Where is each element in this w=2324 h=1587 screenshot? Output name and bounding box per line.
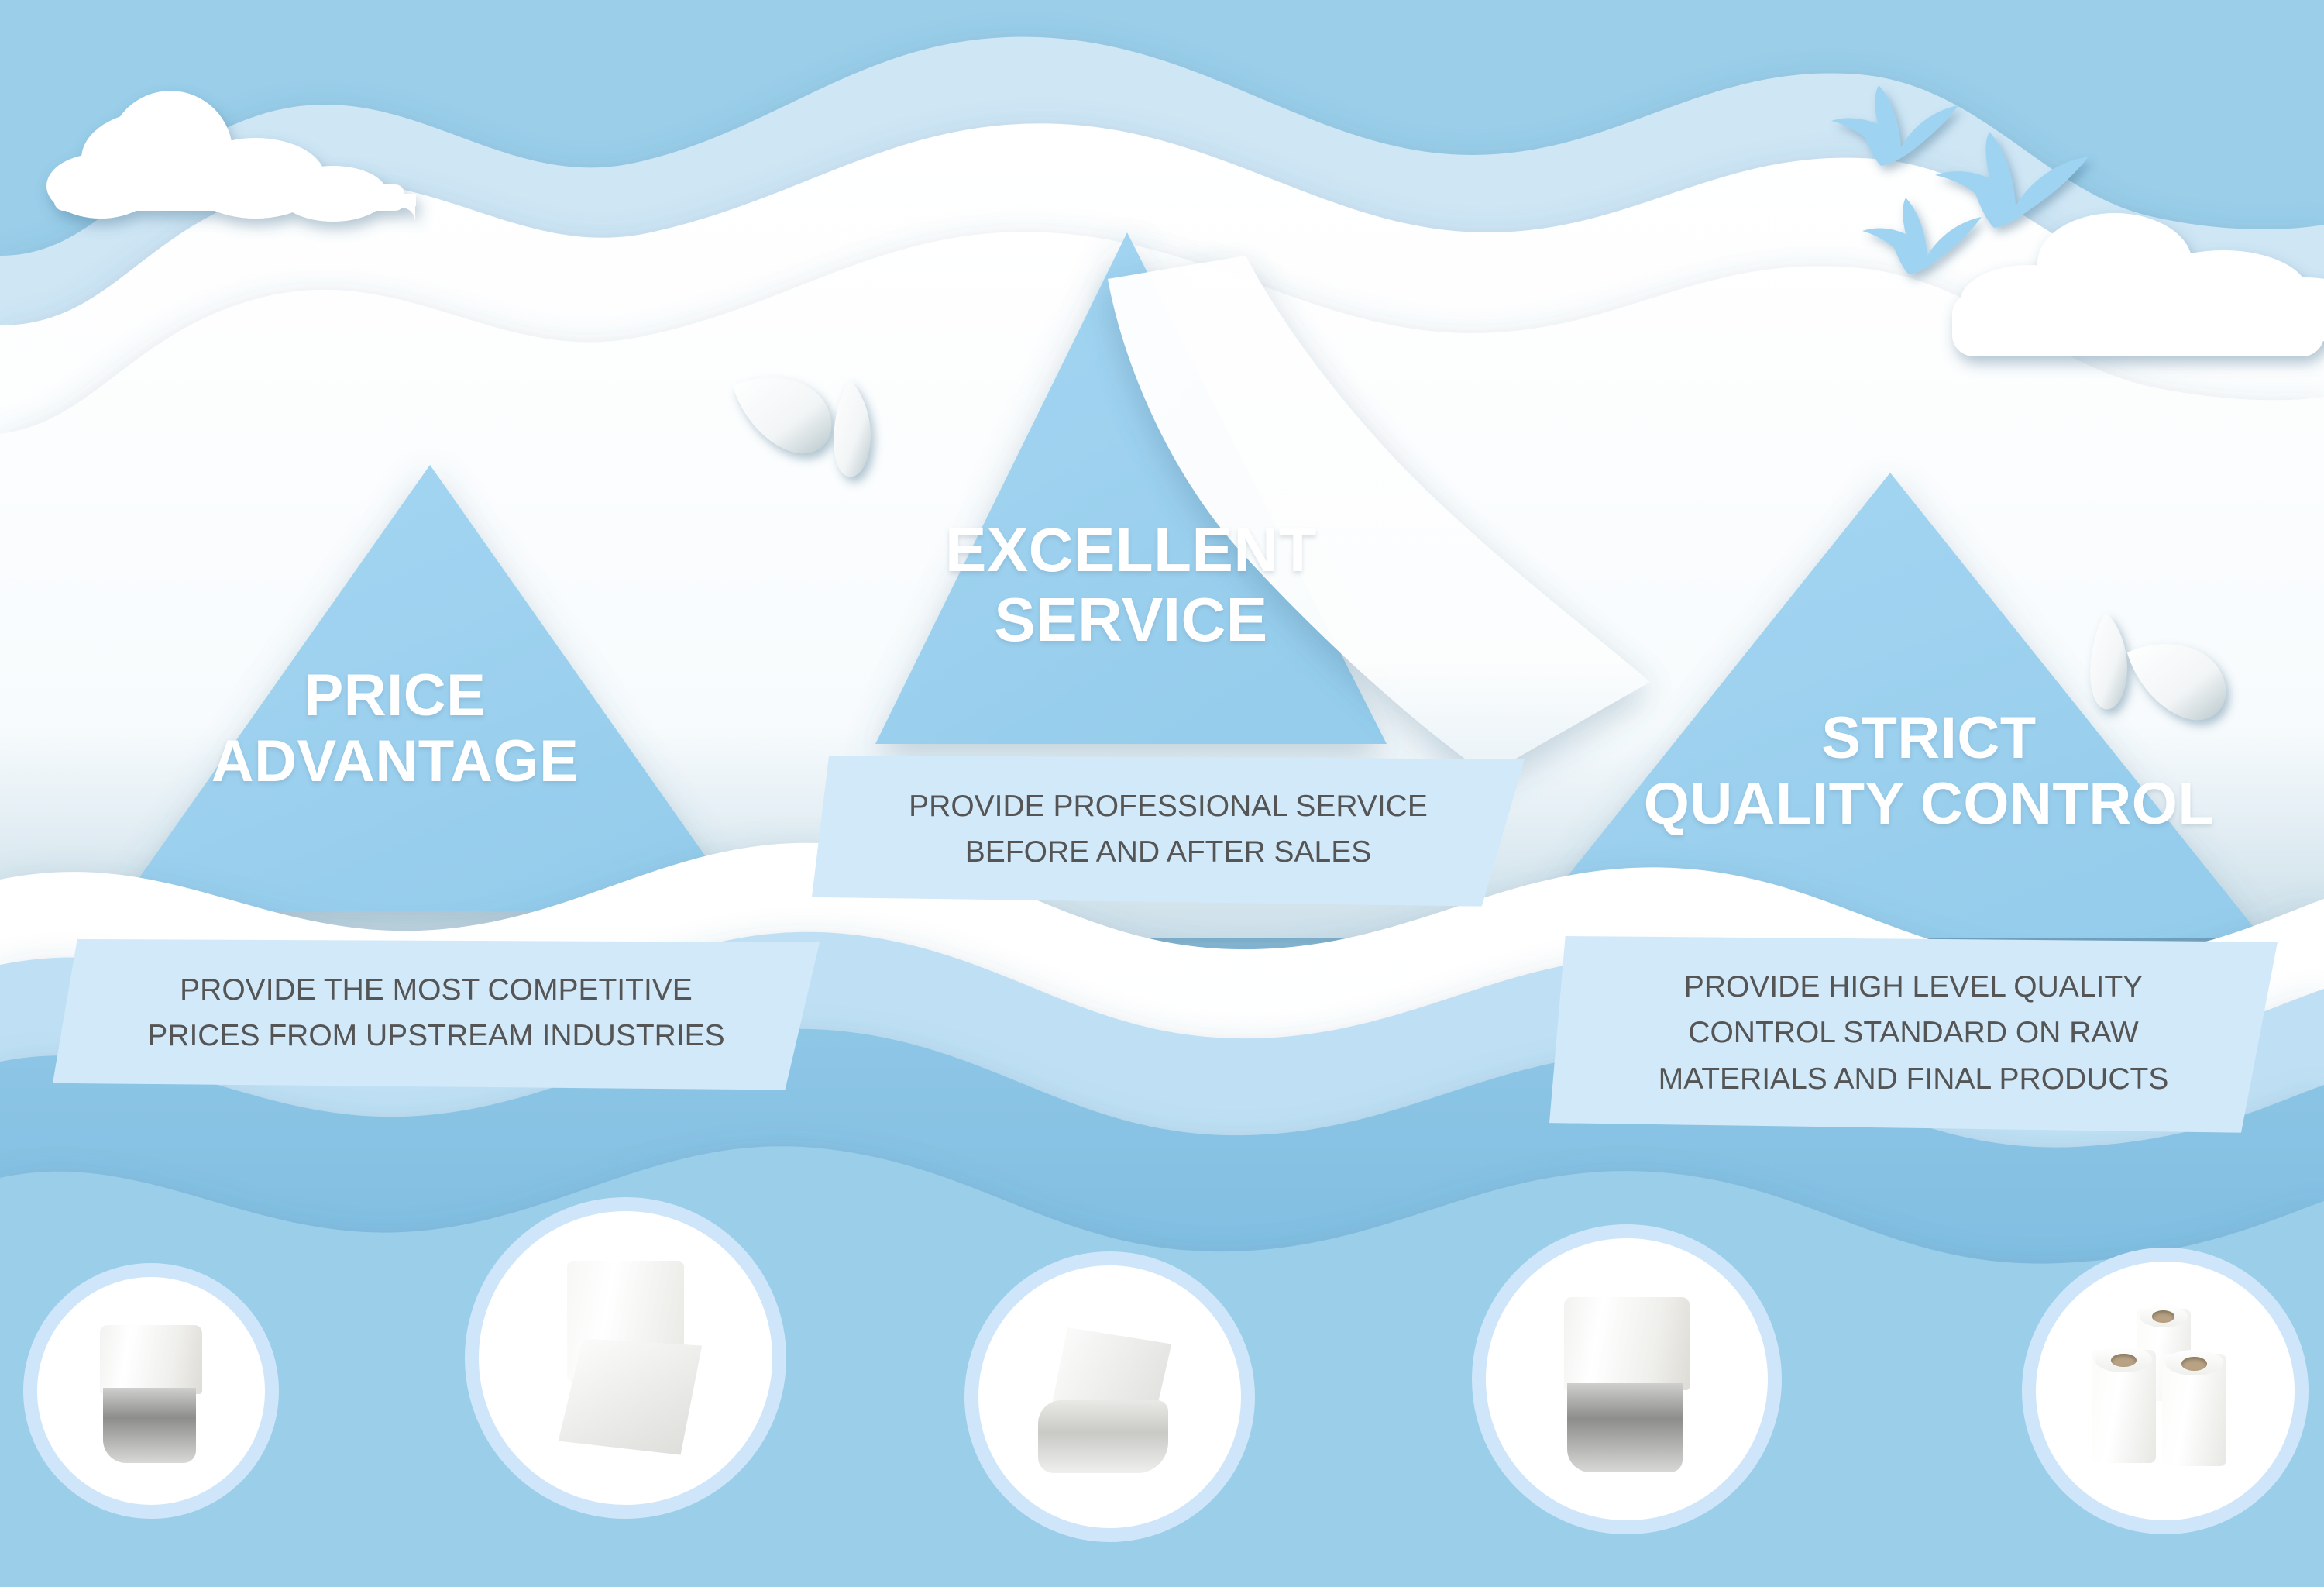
feature-caption-price-advantage: PROVIDE THE MOST COMPETITIVE PRICES FROM… bbox=[53, 939, 820, 1090]
caption-line: PRICES FROM UPSTREAM INDUSTRIES bbox=[76, 1013, 796, 1059]
feature-title-price-advantage: PRICE ADVANTAGE bbox=[139, 663, 651, 794]
infographic-canvas: PRICE ADVANTAGE EXCELLENT SERVICE STRICT… bbox=[0, 0, 2324, 1587]
product-thumb-nonwoven-three-rolls[interactable] bbox=[2022, 1248, 2309, 1534]
product-thumb-nonwoven-wide-roll[interactable] bbox=[1472, 1224, 1782, 1534]
feature-caption-strict-quality-control: PROVIDE HIGH LEVEL QUALITY CONTROL STAND… bbox=[1549, 936, 2278, 1133]
caption-line: CONTROL STANDARD ON RAW bbox=[1573, 1010, 2254, 1055]
nonwoven-three-rolls-icon bbox=[2085, 1306, 2245, 1476]
caption-line: BEFORE AND AFTER SALES bbox=[835, 829, 1501, 875]
product-thumb-nonwoven-sheet-roll[interactable] bbox=[465, 1197, 786, 1519]
product-thumb-nonwoven-roll[interactable] bbox=[23, 1263, 279, 1519]
nonwoven-wide-roll-icon bbox=[1539, 1286, 1714, 1472]
caption-line: PROVIDE HIGH LEVEL QUALITY bbox=[1573, 964, 2254, 1010]
feature-title-excellent-service: EXCELLENT SERVICE bbox=[821, 515, 1441, 654]
product-thumb-nonwoven-folded-fabric[interactable] bbox=[964, 1251, 1255, 1542]
caption-line: PROVIDE THE MOST COMPETITIVE bbox=[76, 967, 796, 1013]
feature-caption-excellent-service: PROVIDE PROFESSIONAL SERVICE BEFORE AND … bbox=[812, 756, 1525, 907]
caption-line: PROVIDE PROFESSIONAL SERVICE bbox=[835, 783, 1501, 829]
feature-title-strict-quality-control: STRICT QUALITY CONTROL bbox=[1534, 705, 2324, 837]
nonwoven-folded-fabric-icon bbox=[1028, 1310, 1191, 1484]
caption-line: MATERIALS AND FINAL PRODUCTS bbox=[1573, 1056, 2254, 1102]
nonwoven-sheet-roll-icon bbox=[535, 1261, 717, 1454]
nonwoven-roll-icon bbox=[81, 1316, 222, 1466]
